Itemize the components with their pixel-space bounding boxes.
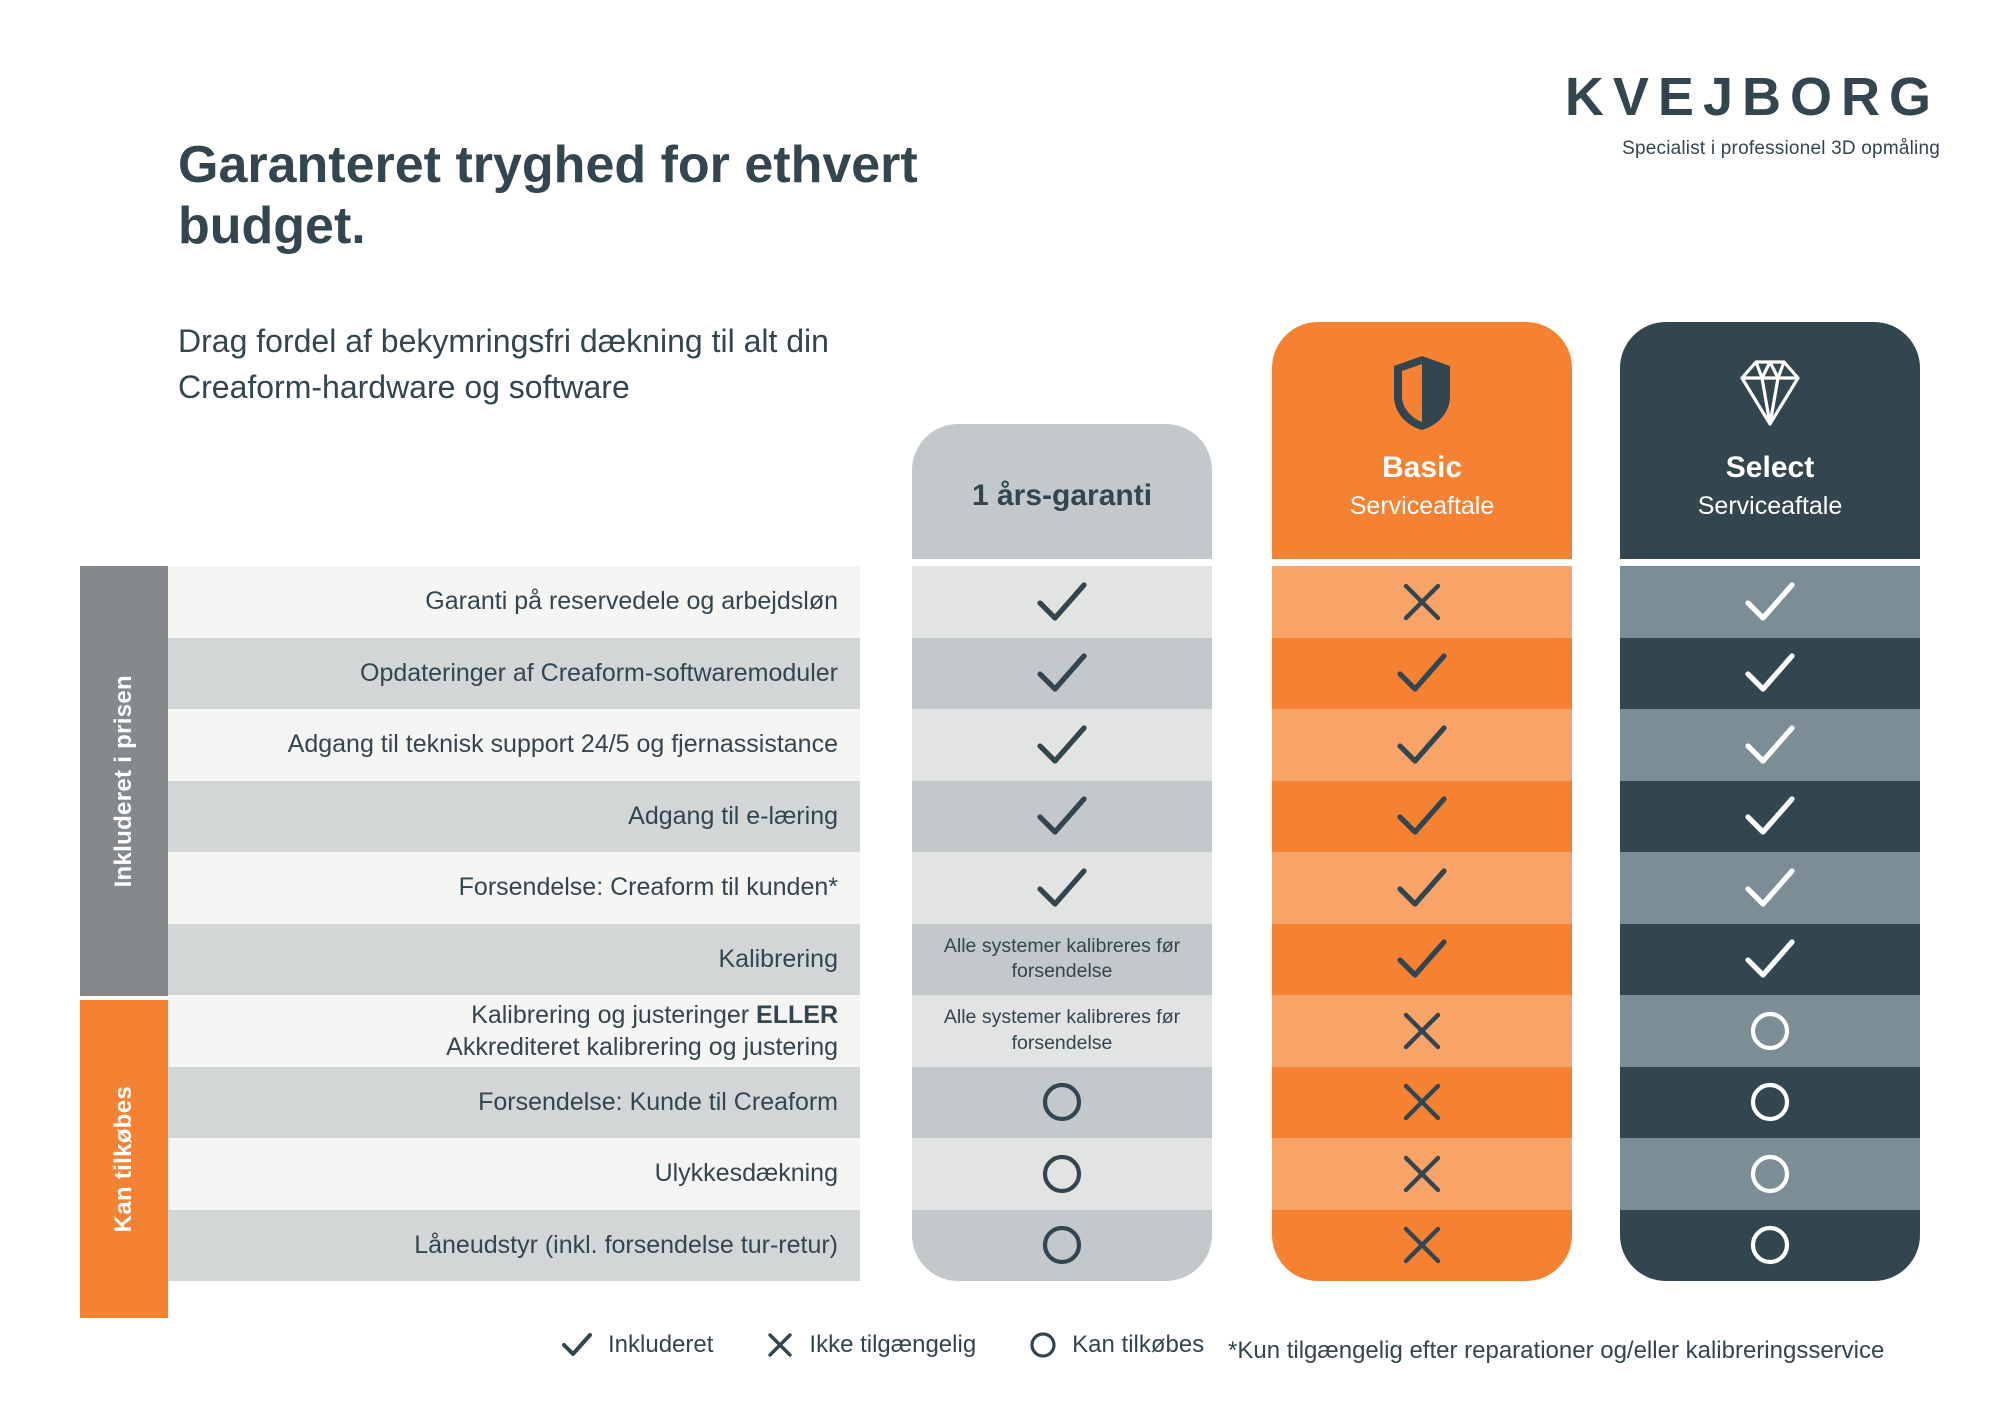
cell-note: Alle systemer kalibreres før forsendelse [912,1005,1212,1056]
table-cell-c1 [912,1138,1212,1210]
check-icon [560,1330,594,1360]
check-icon [1742,865,1798,911]
table-cell-c1 [912,1210,1212,1282]
table-cell-c2 [1272,995,1572,1067]
check-icon [1034,579,1090,625]
row-label: Låneudstyr (inkl. forsendelse tur-retur) [168,1210,860,1282]
column-title-warranty: 1 års-garanti [912,479,1212,513]
row-label: Ulykkesdækning [168,1138,860,1210]
cell-note: Alle systemer kalibreres før forsendelse [912,934,1212,985]
check-icon [1034,793,1090,839]
column-header-warranty: 1 års-garanti [912,424,1212,559]
page-subtitle: Drag fordel af bekymringsfri dækning til… [178,318,898,411]
table-cell-c1 [912,709,1212,781]
brand-block: KVEJBORG Specialist i professionel 3D op… [1565,70,1940,160]
circle-icon [1039,1151,1085,1197]
table-cell-c1 [912,1067,1212,1139]
check-icon [1394,722,1450,768]
table-cell-c2 [1272,709,1572,781]
check-icon [1034,722,1090,768]
row-label: Kalibrering og justeringer ELLERAkkredit… [168,995,860,1067]
table-cell-c1 [912,852,1212,924]
table-cell-c3 [1620,924,1920,996]
legend-label-purchasable: Kan tilkøbes [1072,1331,1204,1359]
table-cell-c3 [1620,995,1920,1067]
table-cell-c1: Alle systemer kalibreres før forsendelse [912,995,1212,1067]
table-cell-c1 [912,638,1212,710]
cross-icon [1399,1008,1445,1054]
circle-icon [1028,1330,1058,1360]
table-cell-c3 [1620,709,1920,781]
column-title-select: Select [1620,451,1920,485]
table-cell-c1 [912,566,1212,638]
check-icon [1742,579,1798,625]
cross-icon [1399,579,1445,625]
check-icon [1742,936,1798,982]
check-icon [1034,650,1090,696]
check-icon [1742,722,1798,768]
table-cell-c1: Alle systemer kalibreres før forsendelse [912,924,1212,996]
legend-item-purchasable: Kan tilkøbes [1028,1330,1204,1360]
column-header-select: Select Serviceaftale [1620,322,1920,559]
table-cell-c2 [1272,1210,1572,1282]
legend-item-unavailable: Ikke tilgængelig [765,1330,976,1360]
table-cell-c2 [1272,781,1572,853]
check-icon [1394,650,1450,696]
check-icon [1394,936,1450,982]
check-icon [1742,793,1798,839]
table-cell-c3 [1620,566,1920,638]
table-cell-c2 [1272,566,1572,638]
brand-tagline: Specialist i professionel 3D opmåling [1565,138,1940,160]
table-cell-c2 [1272,1067,1572,1139]
table-cell-c2 [1272,924,1572,996]
footnote: *Kun tilgængelig efter reparationer og/e… [1228,1337,1884,1365]
column-subtitle-select: Serviceaftale [1620,492,1920,521]
circle-icon [1747,1008,1793,1054]
column-header-basic: Basic Serviceaftale [1272,322,1572,559]
legend-item-included: Inkluderet [560,1330,713,1360]
brand-name: KVEJBORG [1565,70,1940,124]
row-label: Adgang til e-læring [168,781,860,853]
cross-icon [765,1330,795,1360]
legend-label-included: Inkluderet [608,1331,713,1359]
circle-icon [1747,1079,1793,1125]
check-icon [1394,865,1450,911]
row-label: Adgang til teknisk support 24/5 og fjern… [168,709,860,781]
circle-icon [1039,1079,1085,1125]
table-cell-c1 [912,781,1212,853]
row-label: Kalibrering [168,924,860,996]
table-cell-c3 [1620,1138,1920,1210]
check-icon [1742,650,1798,696]
shield-icon [1272,350,1572,436]
row-label: Opdateringer af Creaform-softwaremoduler [168,638,860,710]
column-title-basic: Basic [1272,451,1572,485]
check-icon [1034,865,1090,911]
row-label: Forsendelse: Creaform til kunden* [168,852,860,924]
circle-icon [1039,1222,1085,1268]
table-cell-c2 [1272,1138,1572,1210]
table-cell-c3 [1620,1210,1920,1282]
table-cell-c2 [1272,638,1572,710]
row-label: Forsendelse: Kunde til Creaform [168,1067,860,1139]
table-cell-c3 [1620,1067,1920,1139]
cross-icon [1399,1151,1445,1197]
cross-icon [1399,1222,1445,1268]
diamond-icon [1620,350,1920,436]
column-subtitle-basic: Serviceaftale [1272,492,1572,521]
row-label: Garanti på reservedele og arbejdsløn [168,566,860,638]
group-label-addons: Kan tilkøbes [80,1000,168,1318]
circle-icon [1747,1151,1793,1197]
page-title: Garanteret tryghed for ethvert budget. [178,135,938,258]
group-label-included: Inkluderet i prisen [80,566,168,996]
table-cell-c2 [1272,852,1572,924]
legend: Inkluderet Ikke tilgængelig Kan tilkøbes [560,1330,1256,1360]
group-label-addons-text: Kan tilkøbes [110,1086,138,1232]
table-cell-c3 [1620,638,1920,710]
table-cell-c3 [1620,781,1920,853]
group-label-included-text: Inkluderet i prisen [110,675,138,887]
table-cell-c3 [1620,852,1920,924]
legend-label-unavailable: Ikke tilgængelig [809,1331,976,1359]
circle-icon [1747,1222,1793,1268]
cross-icon [1399,1079,1445,1125]
check-icon [1394,793,1450,839]
